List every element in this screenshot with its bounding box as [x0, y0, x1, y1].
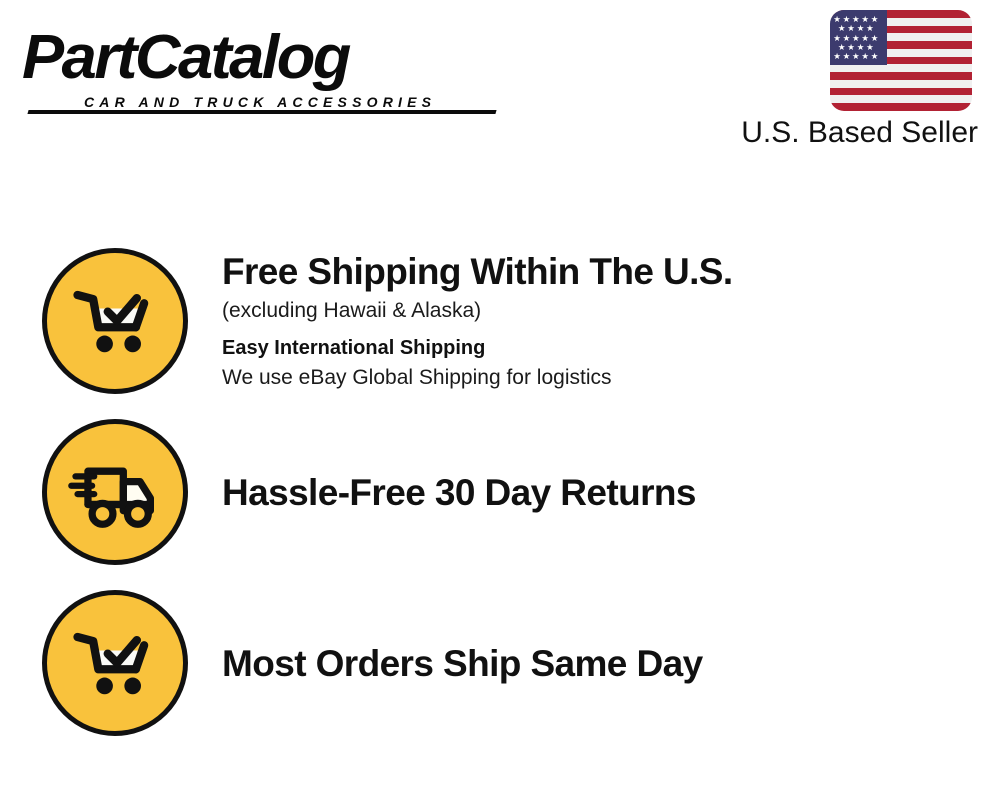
delivery-truck-icon	[42, 419, 188, 565]
feature-text-block: Most Orders Ship Same Day	[222, 642, 942, 686]
feature-list: Free Shipping Within The U.S. (excluding…	[0, 0, 1000, 800]
feature-subnote: We use eBay Global Shipping for logistic…	[222, 363, 942, 393]
shipping-info-banner: PartCatalog CAR AND TRUCK ACCESSORIES	[0, 0, 1000, 800]
feature-text-block: Hassle-Free 30 Day Returns	[222, 471, 942, 515]
feature-row: Free Shipping Within The U.S. (excluding…	[0, 248, 1000, 398]
feature-title: Most Orders Ship Same Day	[222, 642, 942, 686]
feature-text-block: Free Shipping Within The U.S. (excluding…	[222, 250, 942, 393]
feature-title: Free Shipping Within The U.S.	[222, 250, 942, 294]
shopping-cart-check-icon	[42, 590, 188, 736]
shopping-cart-check-icon	[42, 248, 188, 394]
feature-row: Hassle-Free 30 Day Returns	[0, 419, 1000, 569]
feature-title: Hassle-Free 30 Day Returns	[222, 471, 942, 515]
feature-row: Most Orders Ship Same Day	[0, 590, 1000, 740]
feature-subtitle: Easy International Shipping	[222, 334, 942, 363]
feature-note: (excluding Hawaii & Alaska)	[222, 296, 942, 326]
